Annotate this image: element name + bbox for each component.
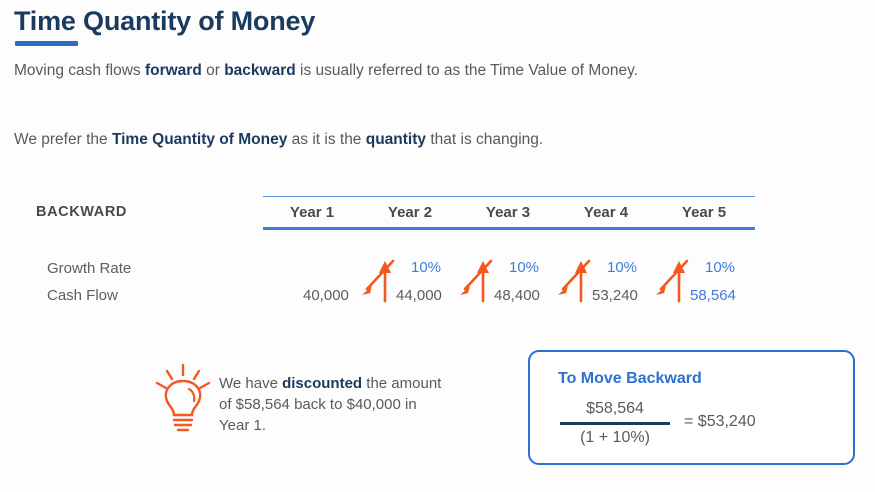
fraction-denominator: (1 + 10%)	[560, 427, 670, 449]
column-header-year-1: Year 1	[263, 204, 361, 221]
fraction-numerator: $58,564	[560, 398, 670, 420]
p2-mid: as it is the	[287, 131, 365, 148]
p1-bold-backward: backward	[224, 62, 296, 79]
fraction-bar	[560, 422, 670, 425]
title-underline	[15, 41, 78, 46]
column-header-year-4: Year 4	[557, 204, 655, 221]
formula-result: = $53,240	[684, 413, 756, 431]
column-header-year-3: Year 3	[459, 204, 557, 221]
row-label-cash-flow: Cash Flow	[47, 287, 118, 304]
callout-title: To Move Backward	[558, 370, 702, 388]
discount-note: We have discounted the amount of $58,564…	[219, 373, 449, 436]
p2-post: that is changing.	[426, 131, 543, 148]
note-bold-discounted: discounted	[282, 375, 362, 392]
growth-rate-year-4: 10%	[607, 259, 667, 276]
cash-flow-year-3: 48,400	[494, 287, 574, 304]
column-header-year-5: Year 5	[655, 204, 753, 221]
table-rule-bottom	[263, 227, 755, 230]
p2-bold-quantity: quantity	[366, 131, 426, 148]
cash-flow-year-4: 53,240	[592, 287, 672, 304]
p1-bold-forward: forward	[145, 62, 202, 79]
p1-post: is usually referred to as the Time Value…	[296, 62, 638, 79]
growth-rate-year-2: 10%	[411, 259, 471, 276]
growth-rate-year-5: 10%	[705, 259, 765, 276]
cash-flow-year-1: 40,000	[303, 287, 383, 304]
column-header-year-2: Year 2	[361, 204, 459, 221]
slide-canvas: Time Quantity of Money Moving cash flows…	[0, 0, 875, 492]
table-rule-top	[263, 196, 755, 197]
page-title: Time Quantity of Money	[14, 6, 315, 37]
row-label-growth-rate: Growth Rate	[47, 260, 131, 277]
intro-paragraph-2: We prefer the Time Quantity of Money as …	[14, 131, 543, 149]
direction-label-backward: BACKWARD	[36, 204, 127, 220]
p1-pre: Moving cash flows	[14, 62, 145, 79]
discount-fraction: $58,564 (1 + 10%)	[560, 398, 670, 449]
p2-pre: We prefer the	[14, 131, 112, 148]
intro-paragraph-1: Moving cash flows forward or backward is…	[14, 62, 638, 80]
note-pre: We have	[219, 375, 282, 392]
p2-bold-tqm: Time Quantity of Money	[112, 131, 287, 148]
p1-mid: or	[202, 62, 224, 79]
cash-flow-year-2: 44,000	[396, 287, 476, 304]
lightbulb-icon	[150, 362, 216, 434]
cash-flow-year-5: 58,564	[690, 287, 770, 304]
growth-rate-year-3: 10%	[509, 259, 569, 276]
